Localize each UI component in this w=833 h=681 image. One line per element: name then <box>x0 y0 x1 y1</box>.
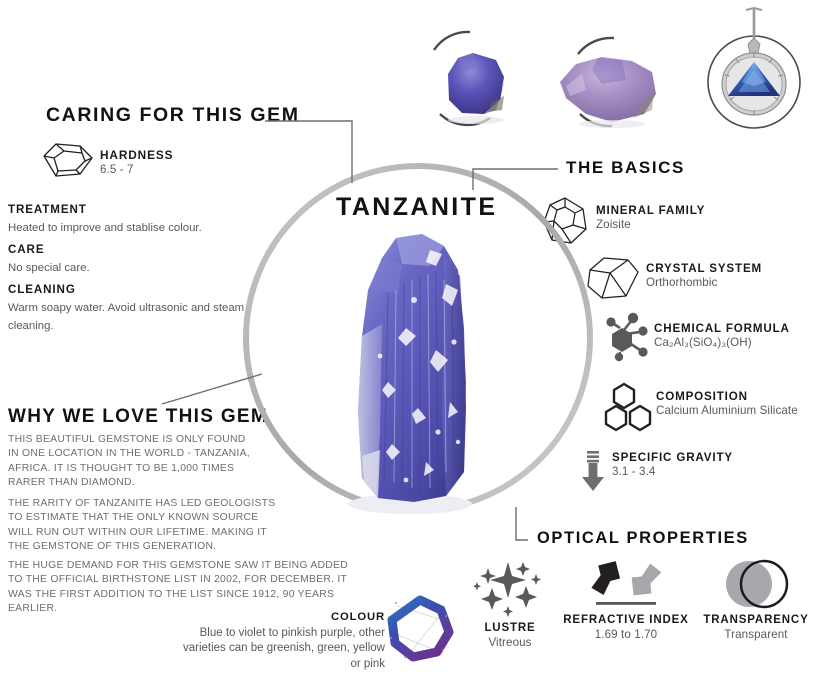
page-title: TANZANITE <box>330 193 503 222</box>
photo-tanzanite-main-crystal <box>318 232 508 522</box>
infographic-canvas: TANZANITE CARING FOR THIS GEM HARDNESS 6… <box>0 0 833 681</box>
photo-tanzanite-pendant <box>692 4 816 134</box>
photo-rough-tanzanite-blue <box>418 22 526 130</box>
photo-rough-tanzanite-violet <box>552 28 672 130</box>
